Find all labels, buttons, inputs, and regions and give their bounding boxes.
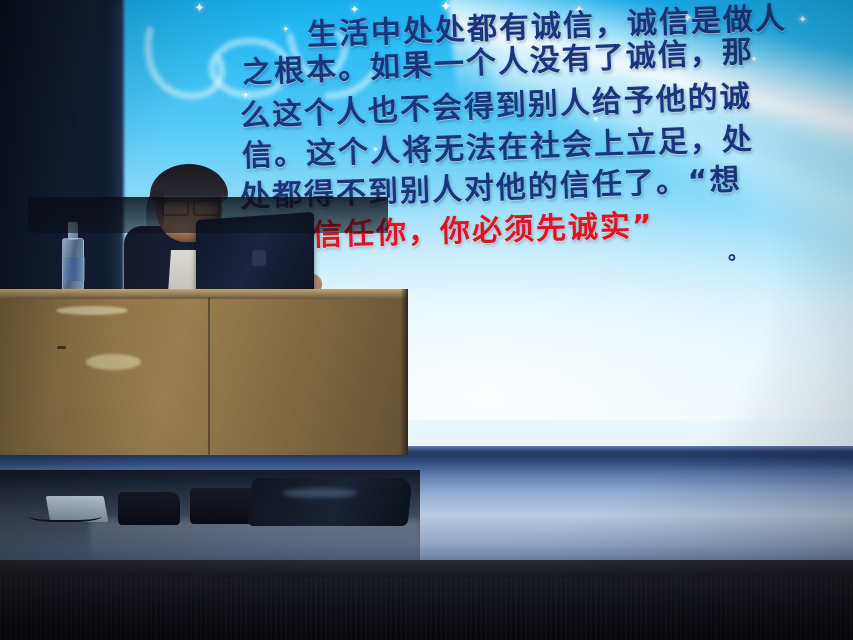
podium-scuff-mark-1 (56, 306, 128, 315)
water-bottle (62, 222, 84, 296)
floor-cable (28, 508, 102, 522)
podium-under-shadow (28, 197, 388, 233)
slide-trailing-punctuation: 。 (728, 236, 748, 265)
slide-line-1: 生活中处处都有诚信，诚信是做人 (306, 0, 787, 54)
podium-scuff-mark-2 (86, 354, 141, 370)
presenter-shoe-left (118, 492, 180, 525)
slide-line-3: 么这个人也不会得到别人给予他的诚 (239, 71, 752, 135)
podium-top-surface (0, 289, 408, 299)
laptop-hinge (252, 250, 266, 266)
comet-streak-secondary (490, 0, 853, 277)
comet-streak-decoration (443, 0, 853, 252)
slide-line-4: 信。这个人将无法在社会上立足，处 (241, 114, 754, 175)
bottle-body (62, 238, 84, 296)
equipment-case (247, 478, 412, 526)
love-swirl-decoration (132, 0, 382, 120)
slide-line-2: 之根本。如果一个人没有了诚信，那 (241, 27, 754, 92)
lecture-hall-photo: ✦ ✦ ✦ ✦ ✦ ✦ ✦ ✦ ✦ ✦ ✦ ✦ ✦ ✦ ✦ 生活中处处都有诚信，… (0, 0, 853, 640)
podium-nail (57, 346, 66, 349)
case-highlight (282, 488, 357, 498)
bottle-label (63, 257, 85, 281)
stage-front-panel (0, 578, 853, 640)
